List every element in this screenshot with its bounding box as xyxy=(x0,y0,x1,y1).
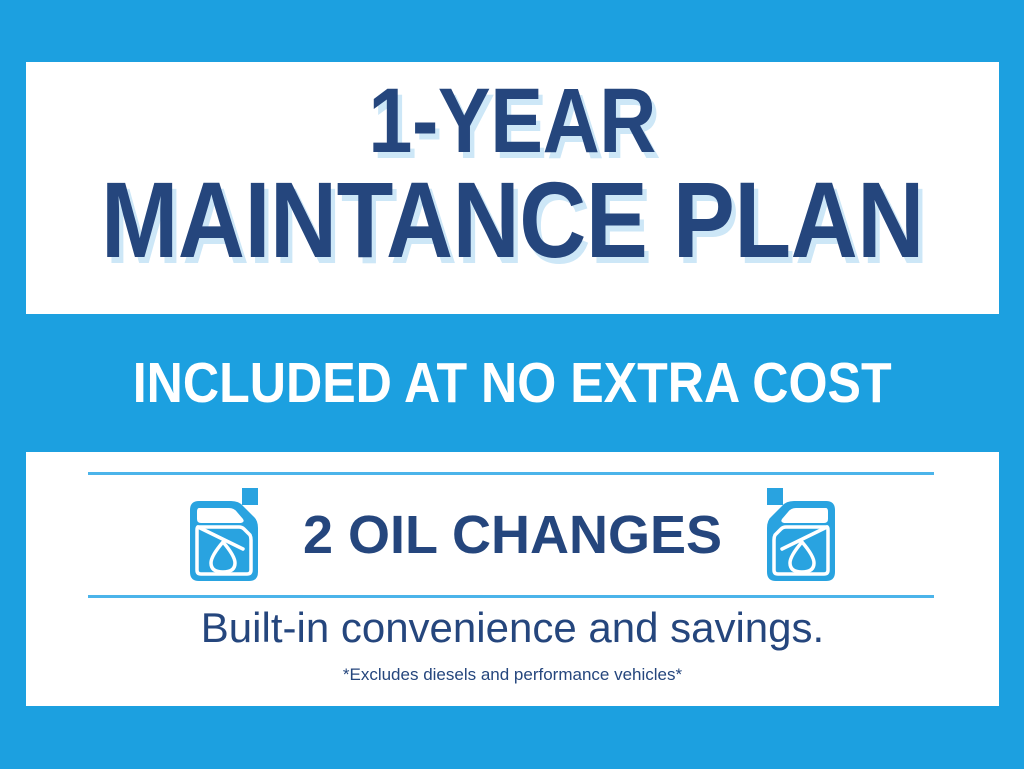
divider-top xyxy=(88,472,934,475)
promo-flyer: 1-YEAR MAINTANCE PLAN INCLUDED AT NO EXT… xyxy=(0,0,1024,769)
tagline: Built-in convenience and savings. xyxy=(26,604,999,652)
offer-label: 2 OIL CHANGES xyxy=(303,504,722,566)
subtitle-text: INCLUDED AT NO EXTRA COST xyxy=(133,350,892,416)
subtitle-band: INCLUDED AT NO EXTRA COST xyxy=(0,314,1024,452)
headline-line-1: 1-YEAR xyxy=(369,78,657,165)
offer-row: 2 OIL CHANGES xyxy=(26,476,999,594)
headline-line-2: MAINTANCE PLAN xyxy=(101,169,924,272)
oil-can-icon xyxy=(760,486,842,584)
oil-can-icon xyxy=(183,486,265,584)
fineprint-disclaimer: *Excludes diesels and performance vehicl… xyxy=(26,665,999,685)
details-panel: 2 OIL CHANGES Built-in convenience and s… xyxy=(26,452,999,706)
divider-bottom xyxy=(88,595,934,598)
headline-panel: 1-YEAR MAINTANCE PLAN xyxy=(26,62,999,314)
